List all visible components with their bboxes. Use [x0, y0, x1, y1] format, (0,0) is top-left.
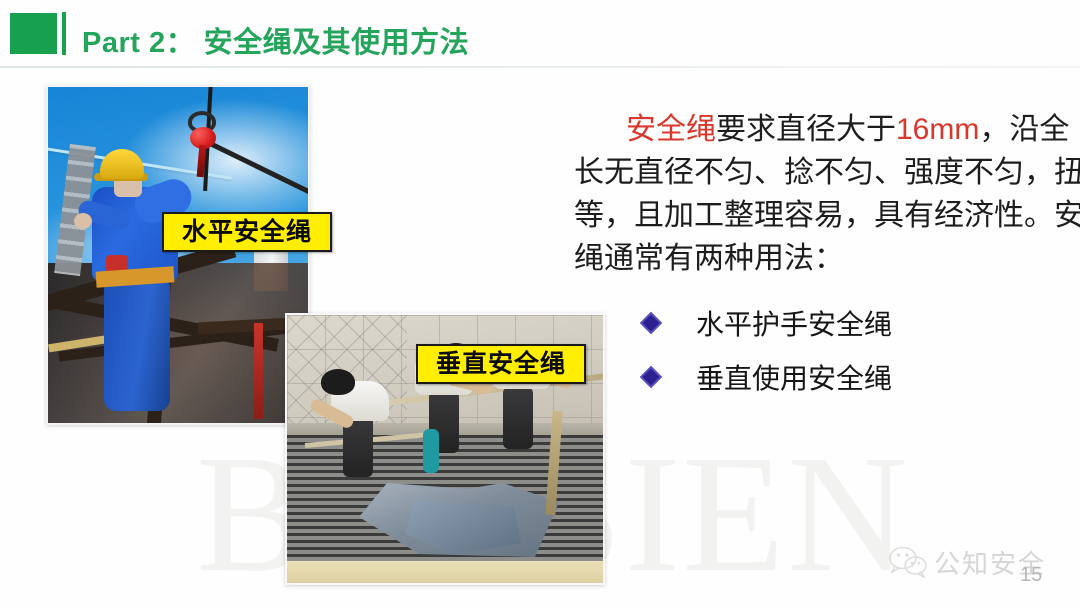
slide-canvas: BOSSIEN Part 2： 安全绳及其使用方法: [0, 0, 1080, 608]
header-divider: [0, 66, 1080, 68]
highlight-diameter: 16mm: [896, 113, 979, 146]
worker-head: [321, 369, 355, 395]
vertical-bar-icon: [62, 12, 66, 55]
page-number: 15: [1020, 564, 1042, 587]
wechat-icon: [888, 546, 928, 578]
deck-foreground-band: [287, 561, 603, 583]
worker-legs: [503, 387, 533, 449]
highlight-safety-rope: 安全绳: [626, 113, 716, 146]
red-pole: [254, 323, 263, 419]
green-square-icon: [10, 13, 57, 54]
diamond-bullet-icon: [640, 312, 662, 334]
bullet-label: 水平护手安全绳: [696, 303, 892, 343]
photo1-scene: [48, 87, 308, 423]
diamond-bullet-icon: [640, 366, 662, 388]
paragraph-line-2: 长无直径不匀、捻不匀、强度不匀，扭结: [574, 151, 1074, 194]
paragraph-line-3: 等，且加工整理容易，具有经济性。安全: [574, 194, 1074, 237]
usage-bullet-list: 水平护手安全绳 垂直使用安全绳: [640, 296, 892, 404]
horizontal-lifeline-photo: [46, 85, 310, 425]
list-item: 垂直使用安全绳: [640, 350, 892, 404]
body-paragraph: 安全绳要求直径大于16mm，沿全 长无直径不匀、捻不匀、强度不匀，扭结 等，且加…: [574, 108, 1074, 280]
paragraph-line1-mid: 要求直径大于: [716, 113, 896, 146]
list-item: 水平护手安全绳: [640, 296, 892, 350]
bullet-label: 垂直使用安全绳: [696, 357, 892, 397]
paragraph-line1-post: ，沿全: [979, 113, 1069, 146]
worker-hand: [74, 213, 92, 229]
vertical-lifeline-label: 垂直安全绳: [416, 344, 586, 384]
paragraph-line-1: 安全绳要求直径大于16mm，沿全: [574, 108, 1074, 151]
worker-teal-boot: [423, 429, 439, 473]
horizontal-lifeline-label: 水平安全绳: [162, 212, 332, 252]
paragraph-line-4: 绳通常有两种用法：: [574, 237, 1074, 280]
worker-legs: [104, 279, 170, 411]
page-title: Part 2： 安全绳及其使用方法: [82, 19, 469, 61]
